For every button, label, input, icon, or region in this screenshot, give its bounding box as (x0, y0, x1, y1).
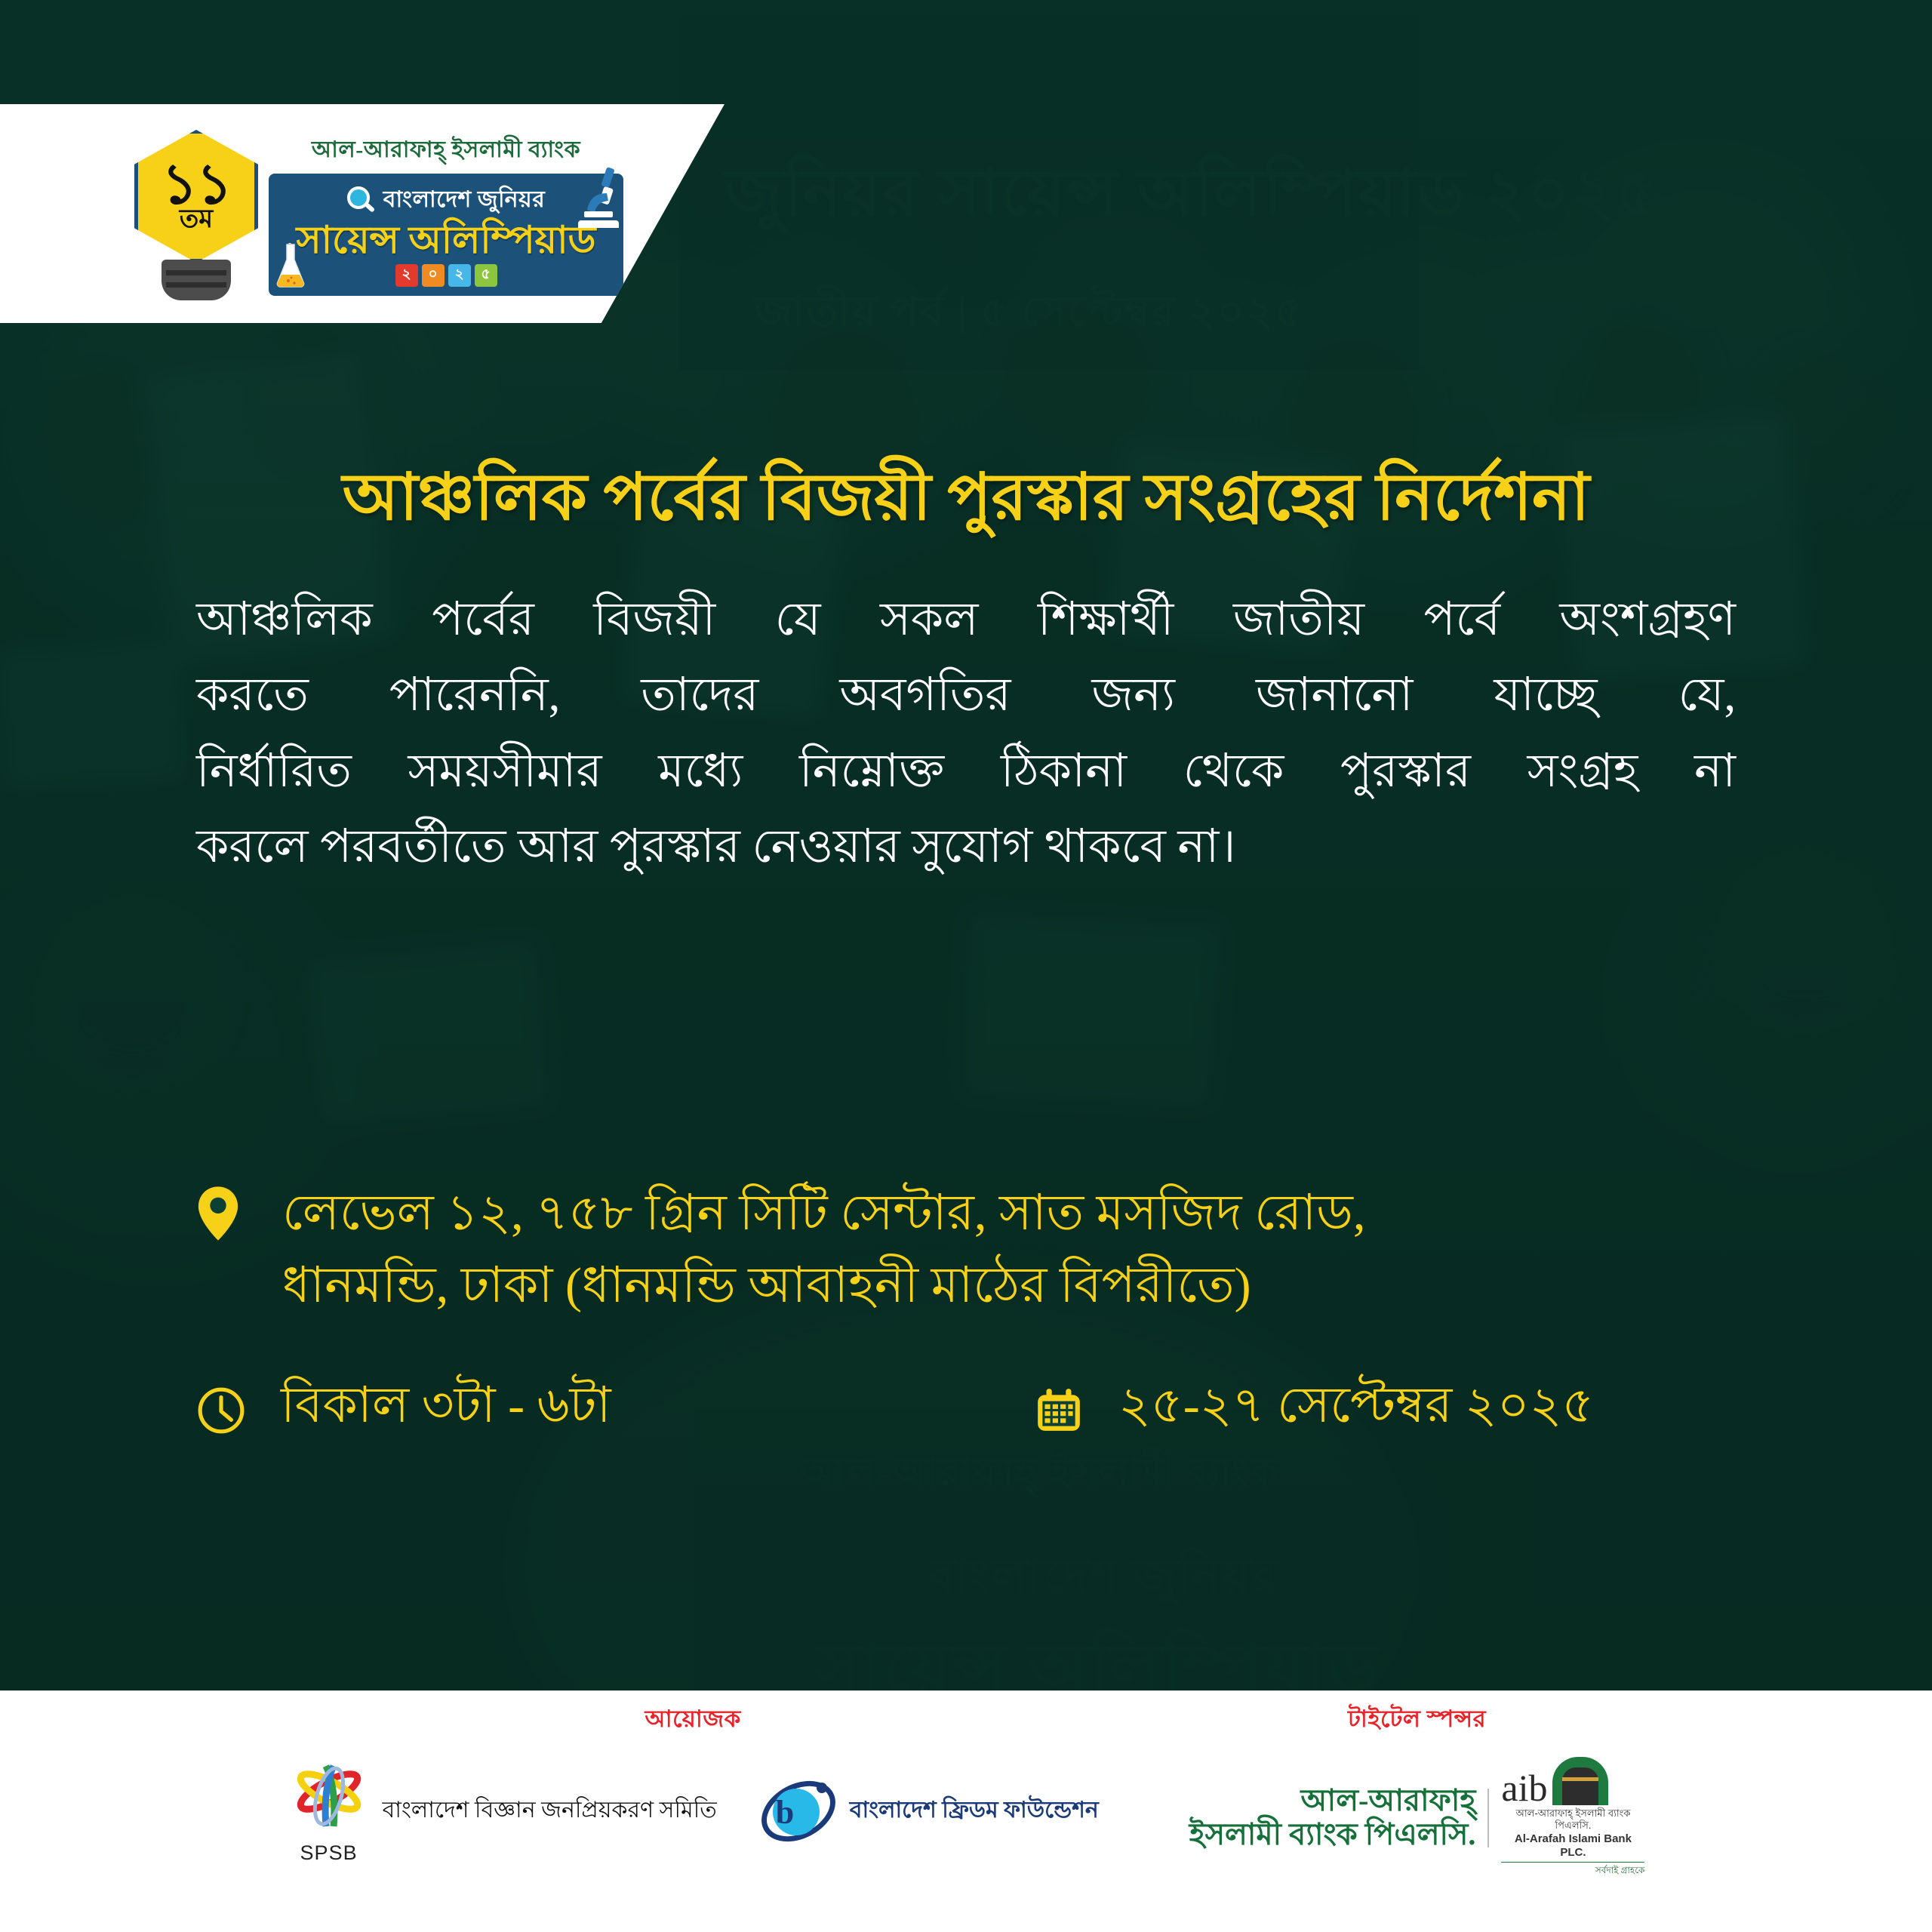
microscope-icon (577, 165, 622, 237)
spsb-name: বাংলাদেশ বিজ্ঞান জনপ্রিয়করণ সমিতি (383, 1792, 717, 1830)
main-content: আঞ্চলিক পর্বের বিজয়ী পুরস্কার সংগ্রহের … (0, 325, 1932, 885)
olympiad-logo: ১১ তম আল-আরাফাহ্ ইসলামী ব্যাংক (128, 127, 623, 300)
time-date-row: বিকাল ৩টা - ৬টা (196, 1367, 1796, 1450)
bulb-base (162, 260, 231, 300)
body-paragraph: আঞ্চলিক পর্বের বিজয়ী যে সকল শিক্ষার্থী … (196, 582, 1736, 885)
bff-mark-icon: bff (759, 1781, 838, 1841)
bff-logo: bff বাংলাদেশ ফ্রিডম ফাউন্ডেশন (759, 1781, 1099, 1841)
event-details: লেভেল ১২, ৭৫৮ গ্রিন সিটি সেন্টার, সাত মস… (196, 1177, 1796, 1450)
year-digit-0: ২ (395, 264, 418, 287)
aib-name: আল-আরাফাহ্ ইসলামী ব্যাংক পিএলসি. (1189, 1784, 1476, 1852)
address-line: ধানমন্ডি, ঢাকা (ধানমন্ডি আবাহনী মাঠের বি… (282, 1250, 1365, 1322)
time-group: বিকাল ৩টা - ৬টা (196, 1367, 1034, 1450)
year-digit-1: ০ (422, 264, 445, 287)
logo-bank-line: আল-আরাফাহ্ ইসলামী ব্যাংক (269, 131, 623, 170)
poster-root: জুনিয়র সায়েন্স অলিম্পিয়াড ২০২৫ জাতীয়… (0, 0, 1932, 1932)
time-text: বিকাল ৩টা - ৬টা (281, 1367, 611, 1450)
sponsor-caption: টাইটেল স্পন্সর (1348, 1701, 1486, 1740)
logo-title-line2: সায়েন্স অলিম্পিয়াড (282, 221, 610, 259)
logo-plate: বাংলাদেশ জুনিয়র সায়েন্স অলিম্পিয়াড ২ … (269, 174, 623, 296)
aib-arch-icon (1552, 1757, 1608, 1805)
address-row: লেভেল ১২, ৭৫৮ গ্রিন সিটি সেন্টার, সাত মস… (196, 1177, 1796, 1321)
paragraph-line: করতে পারেননি, তাদের অবগতির জন্য জানানো য… (196, 657, 1736, 733)
edition-number: ১১ (162, 162, 231, 208)
aib-name-line1: আল-আরাফাহ্ (1189, 1784, 1476, 1818)
address-line: লেভেল ১২, ৭৫৮ গ্রিন সিটি সেন্টার, সাত মস… (282, 1177, 1365, 1250)
edition-suffix: তম (180, 209, 213, 230)
logo-title-line1: বাংলাদেশ জুনিয়র (383, 181, 545, 220)
spsb-mark-text: SPSB (300, 1841, 358, 1865)
aib-logo: আল-আরাফাহ্ ইসলামী ব্যাংক পিএলসি. aib আল-… (1189, 1757, 1645, 1879)
aib-sub-bn: আল-আরাফাহ্ ইসলামী ব্যাংক পিএলসি. (1501, 1807, 1644, 1832)
header-band: ১১ তম আল-আরাফাহ্ ইসলামী ব্যাংক (0, 104, 724, 323)
flask-icon (273, 243, 308, 290)
footer: আয়োজক SPSB (0, 1690, 1932, 1932)
bff-name: বাংলাদেশ ফ্রিডম ফাউন্ডেশন (850, 1792, 1099, 1830)
paragraph-line: আঞ্চলিক পর্বের বিজয়ী যে সকল শিক্ষার্থী … (196, 582, 1736, 657)
logo-year-row: ২ ০ ২ ৫ (282, 264, 610, 287)
aib-mark-sub: আল-আরাফাহ্ ইসলামী ব্যাংক পিএলসি. Al-Araf… (1501, 1807, 1644, 1863)
aib-divider (1487, 1789, 1489, 1847)
clock-icon (196, 1378, 252, 1439)
calendar-icon (1034, 1378, 1090, 1439)
logo-text-block: আল-আরাফাহ্ ইসলামী ব্যাংক (269, 131, 623, 296)
paragraph-line: করলে পরবর্তীতে আর পুরস্কার নেওয়ার সুযোগ… (196, 809, 1736, 884)
page-title: আঞ্চলিক পর্বের বিজয়ী পুরস্কার সংগ্রহের … (196, 460, 1736, 535)
lightbulb-icon: ১১ তম (128, 127, 264, 300)
aib-mark-text: aib (1501, 1771, 1547, 1805)
year-digit-3: ৫ (475, 264, 497, 287)
aib-name-line2: ইসলামী ব্যাংক পিএলসি. (1189, 1818, 1476, 1852)
organizer-caption: আয়োজক (645, 1701, 741, 1740)
address-text: লেভেল ১২, ৭৫৮ গ্রিন সিটি সেন্টার, সাত মস… (282, 1177, 1365, 1321)
aib-sub-en: Al-Arafah Islami Bank PLC. (1501, 1832, 1644, 1861)
spsb-logo: SPSB বাংলাদেশ বিজ্ঞান জনপ্রিয়করণ সমিতি (288, 1757, 717, 1865)
map-pin-icon (196, 1177, 252, 1246)
organizer-group: আয়োজক SPSB (288, 1701, 1099, 1865)
aib-tagline: সর্বদাই গ্রাহকে (1501, 1864, 1644, 1879)
aib-mark: aib আল-আরাফাহ্ ইসলামী ব্যাংক পিএলসি. Al-… (1501, 1757, 1644, 1879)
magnifier-icon (347, 186, 376, 215)
date-group: ২৫-২৭ সেপ্টেম্বর ২০২৫ (1034, 1367, 1594, 1450)
paragraph-line: নির্ধারিত সময়সীমার মধ্যে নিম্নোক্ত ঠিকা… (196, 734, 1736, 809)
year-digit-2: ২ (448, 264, 471, 287)
sponsor-group: টাইটেল স্পন্সর আল-আরাফাহ্ ইসলামী ব্যাংক … (1189, 1701, 1645, 1879)
spsb-mark-icon (291, 1757, 367, 1840)
edition-badge: ১১ তম (134, 130, 258, 263)
date-text: ২৫-২৭ সেপ্টেম্বর ২০২৫ (1118, 1367, 1594, 1450)
